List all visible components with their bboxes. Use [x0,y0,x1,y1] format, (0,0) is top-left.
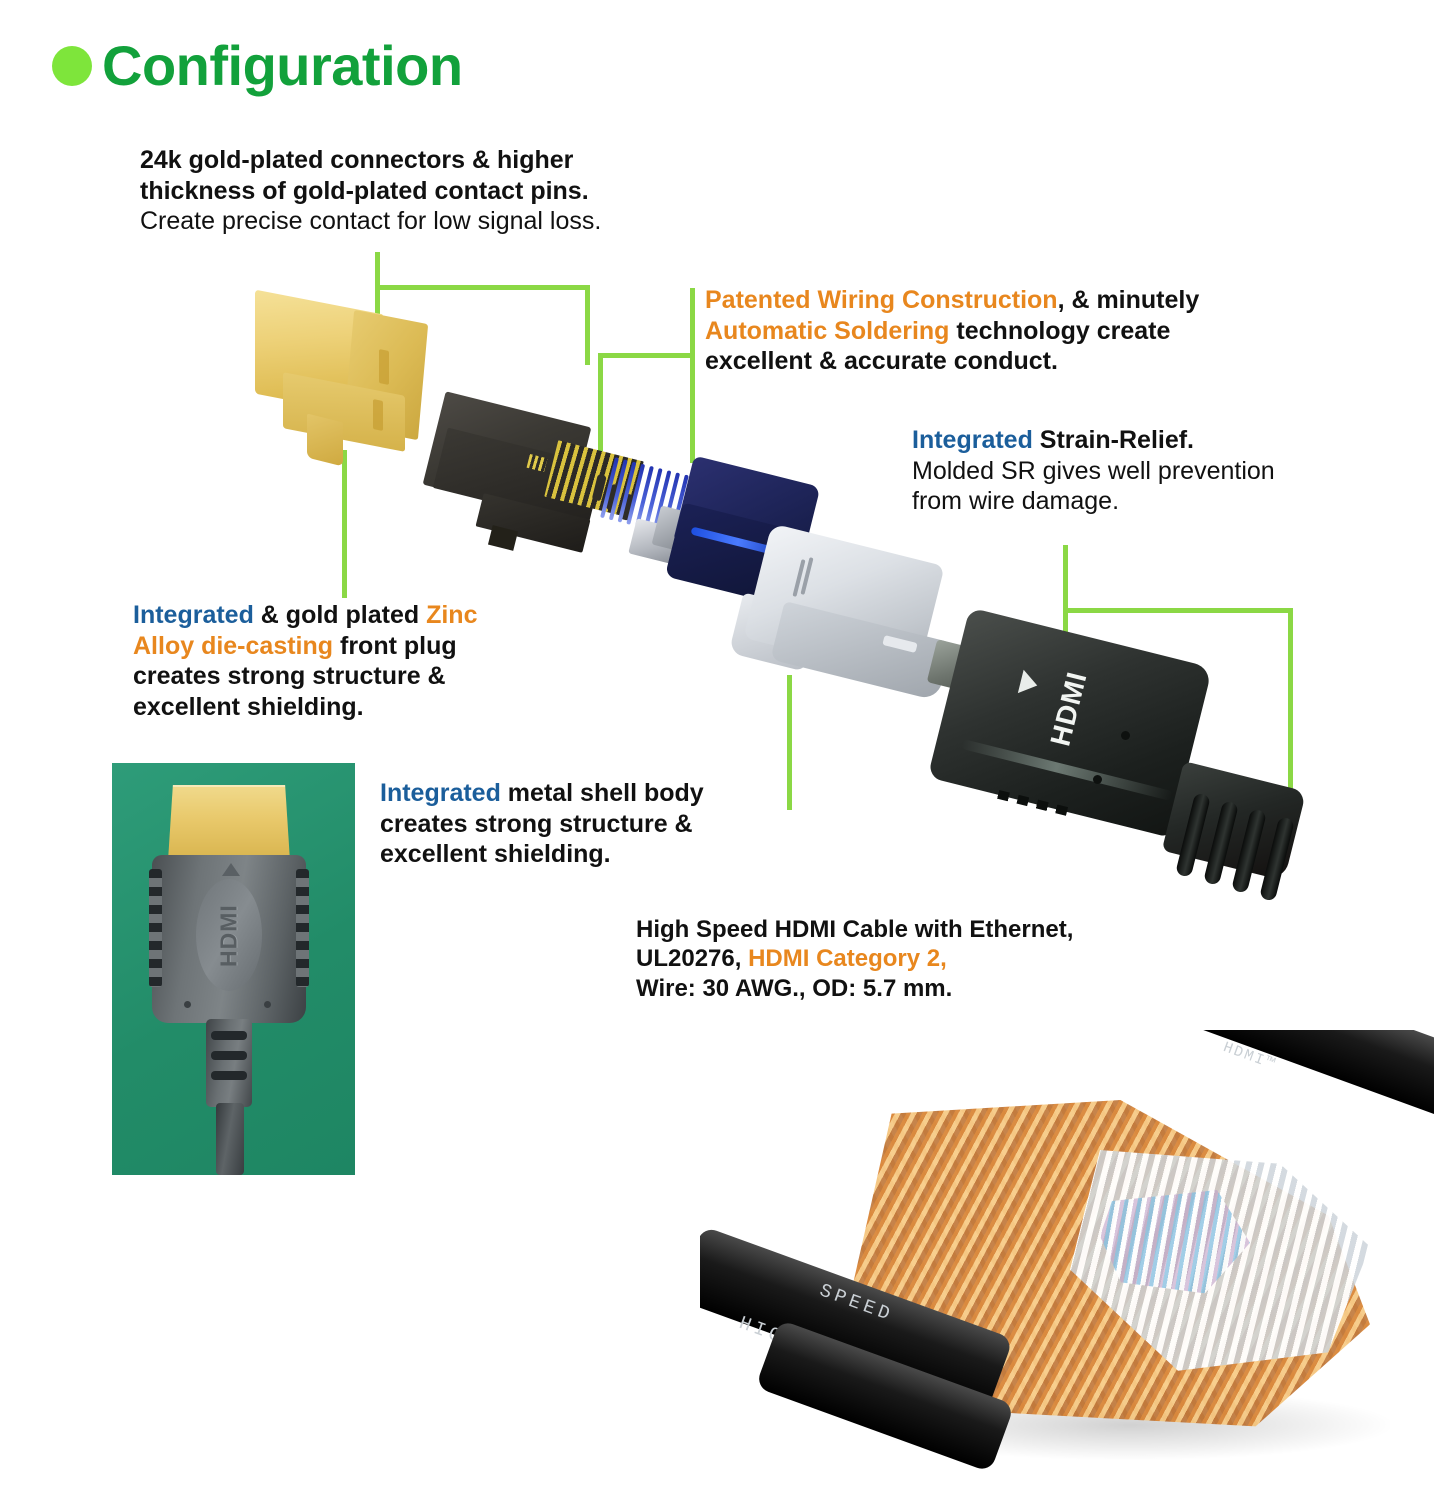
page-title-text: Configuration [102,38,463,94]
gold-shell-tab [307,414,343,467]
connector-screw-dot-1 [1121,731,1130,740]
callout-zinc-rest2: front plug [333,632,457,660]
photo-hdmi-logo-text: HDMI [204,891,254,981]
callout-shell-line2: creates strong structure & [380,809,704,840]
cable-cross-section-photo: HDMI™ HIGH SPEED [700,1030,1434,1500]
black-hdmi-connector: HDMI [935,625,1355,925]
callout-metal-shell: Integrated metal shell body creates stro… [380,778,704,870]
connector-screw-dot-2 [1093,775,1102,784]
callout-zinc-line3: creates strong structure & [133,661,477,692]
callout-zinc-line4: excellent shielding. [133,692,477,723]
callout-wiring-rest1: , & minutely [1058,286,1200,314]
callout-wiring-line1: Patented Wiring Construction, & minutely [705,285,1199,316]
hdmi-plug-photo: HDMI [112,763,355,1175]
callout-patented-wiring: Patented Wiring Construction, & minutely… [705,285,1199,377]
callout-wiring-line3: excellent & accurate conduct. [705,346,1199,377]
callout-strain-relief: Integrated Strain-Relief. Molded SR give… [912,425,1275,517]
callout-sr-line3: from wire damage. [912,486,1275,517]
callout-sr-line2: Molded SR gives well prevention [912,456,1275,487]
photo-plug-dot-left [184,1001,191,1008]
gold-shell-slot-upper [379,349,389,385]
leader-line-wiring-stem [690,288,695,463]
callout-spec-block: High Speed HDMI Cable with Ethernet, UL2… [636,915,1073,1003]
bullet-dot-icon [52,46,92,86]
spec-line1: High Speed HDMI Cable with Ethernet, [636,915,1073,944]
photo-plug-cord [216,1103,244,1175]
callout-wiring-rest2: technology create [949,317,1170,345]
callout-zinc-alloy: Integrated & gold plated Zinc Alloy die-… [133,600,477,722]
photo-plug-strain-relief [206,1019,252,1107]
callout-shell-line1: Integrated metal shell body [380,778,704,809]
leader-line-gold-b-stem [585,285,590,365]
spec-line2-a: UL20276, [636,945,748,972]
page-title: Configuration [52,38,463,94]
gold-plated-front-shell [255,288,455,488]
leader-line-wiring-bridge [598,353,695,358]
callout-wiring-hl2: Automatic Soldering [705,317,949,345]
callout-zinc-hl1: Integrated [133,601,254,629]
up-triangle-icon [222,863,240,876]
callout-zinc-hl3: Alloy die-casting [133,632,333,660]
callout-gold-line1: 24k gold-plated connectors & higher [140,145,601,176]
callout-shell-rest1: metal shell body [501,779,704,807]
callout-sr-rest1: Strain-Relief. [1033,426,1194,454]
callout-zinc-rest1: & gold plated [254,601,426,629]
spec-line2: UL20276, HDMI Category 2, [636,944,1073,973]
photo-plug-body: HDMI [152,855,306,1023]
infographic-canvas: Configuration [0,0,1434,1500]
callout-shell-line3: excellent shielding. [380,839,704,870]
callout-zinc-line1: Integrated & gold plated Zinc [133,600,477,631]
leader-line-sr-bridge [1063,608,1293,613]
callout-zinc-line2: Alloy die-casting front plug [133,631,477,662]
callout-sr-line1: Integrated Strain-Relief. [912,425,1275,456]
callout-wiring-hl1: Patented Wiring Construction [705,286,1058,314]
callout-gold-line3: Create precise contact for low signal lo… [140,206,601,237]
gold-shell-slot-lower [373,399,383,431]
callout-wiring-line2: Automatic Soldering technology create [705,316,1199,347]
photo-plug-dot-right [264,1001,271,1008]
callout-zinc-hl2: Zinc [426,601,477,629]
callout-gold-connectors: 24k gold-plated connectors & higher thic… [140,145,601,237]
spec-line2-b: HDMI Category 2, [748,945,947,972]
callout-gold-line2: thickness of gold-plated contact pins. [140,176,601,207]
callout-shell-hl1: Integrated [380,779,501,807]
spec-line3: Wire: 30 AWG., OD: 5.7 mm. [636,974,1073,1003]
photo-plug-gold-tip [168,785,290,861]
callout-sr-hl1: Integrated [912,426,1033,454]
cable-jacket-upper [1158,1030,1434,1126]
